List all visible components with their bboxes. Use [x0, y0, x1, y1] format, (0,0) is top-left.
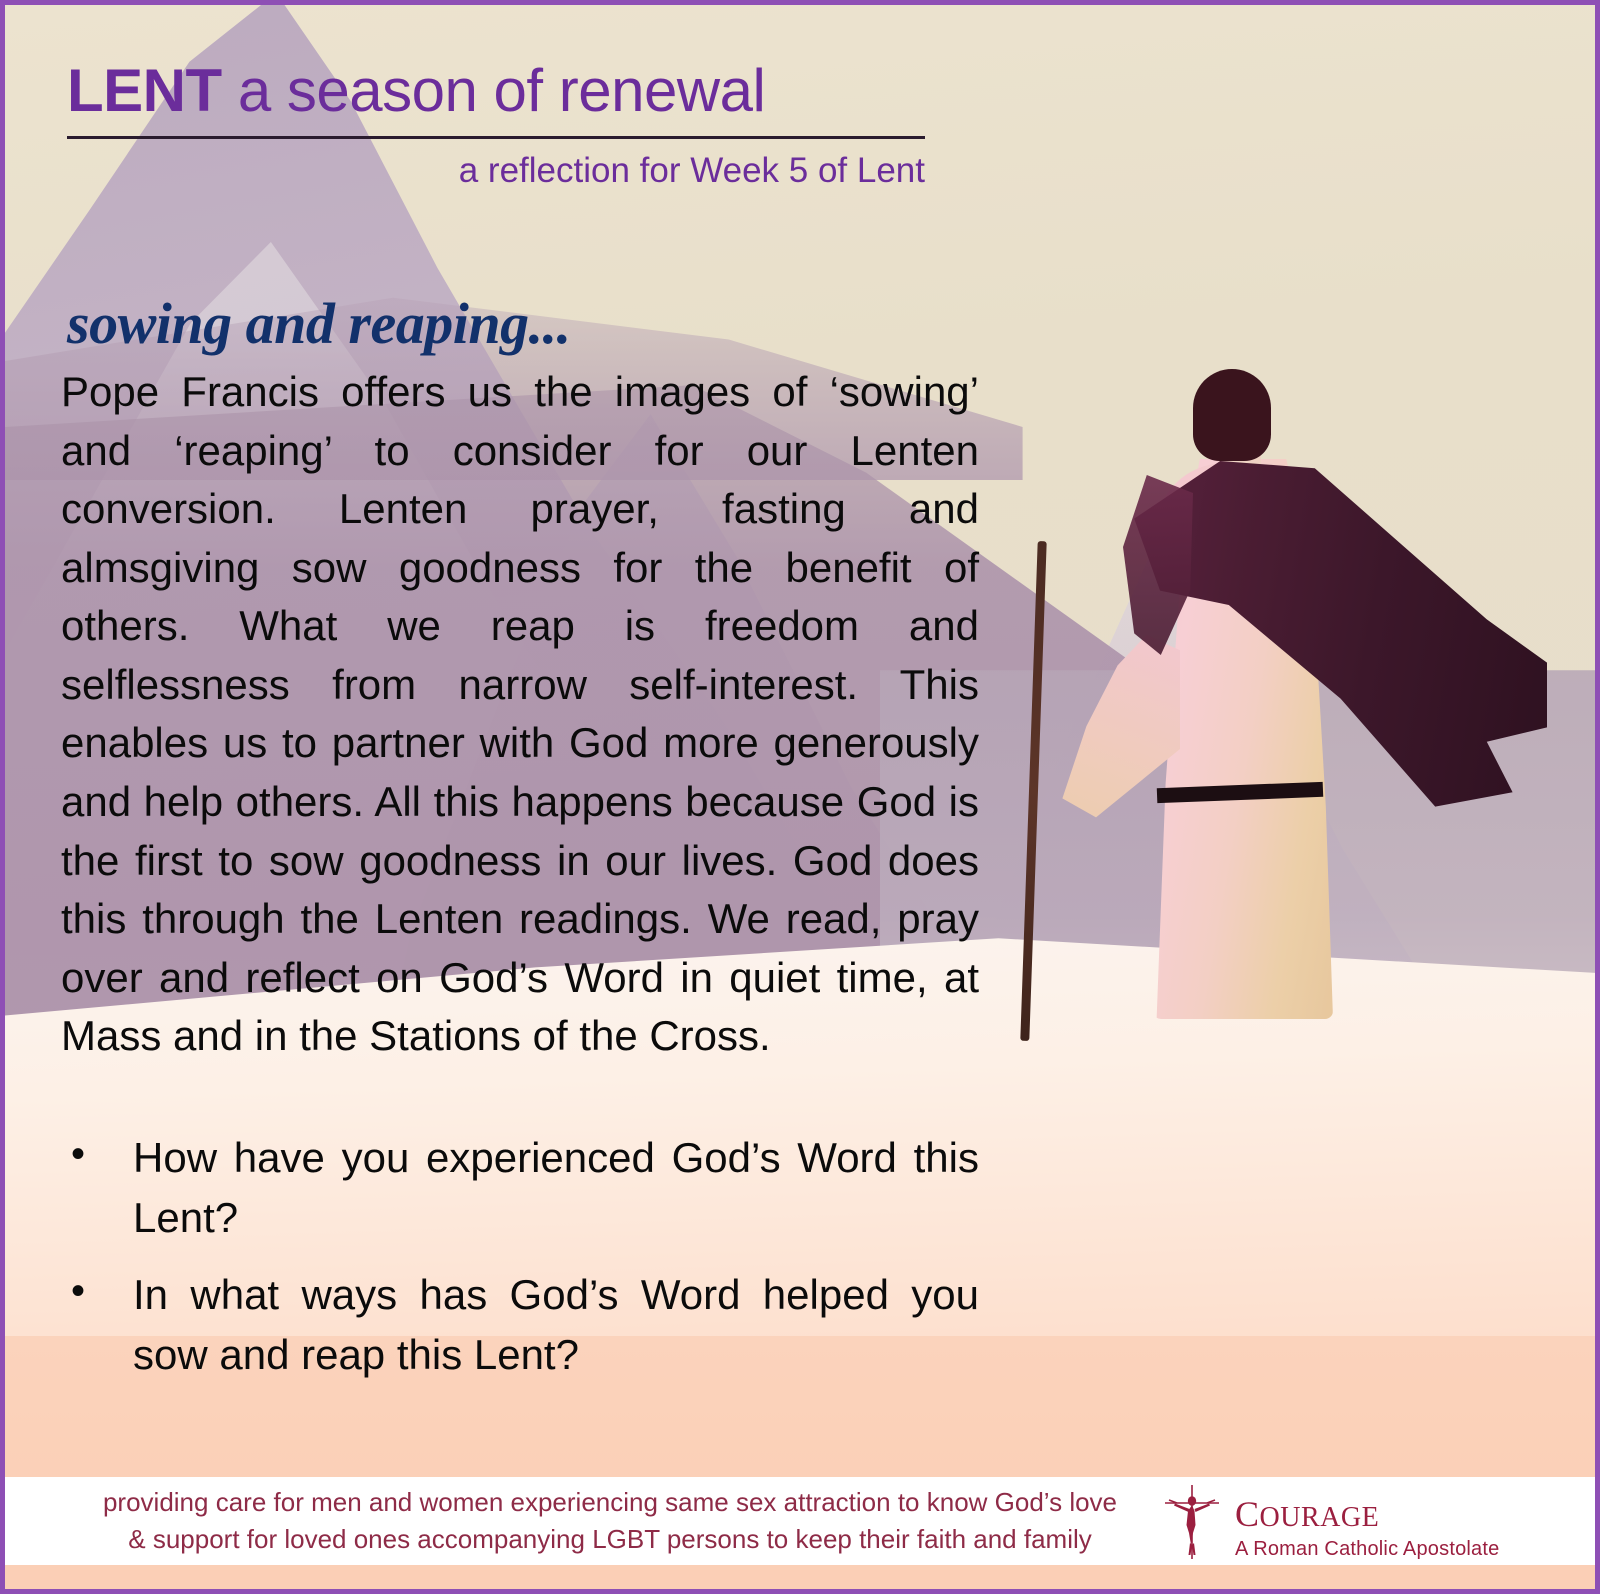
title-lent-word: LENT [67, 57, 222, 124]
courage-logo: COURAGE A Roman Catholic Apostolate [1155, 1481, 1595, 1561]
reflection-questions-list: How have you experienced God’s Word this… [61, 1128, 979, 1385]
figure-head [1193, 369, 1271, 461]
reflection-content: sowing and reaping... Pope Francis offer… [61, 295, 979, 1402]
logo-wordmark: COURAGE A Roman Catholic Apostolate [1235, 1484, 1499, 1559]
list-item: In what ways has God’s Word helped you s… [61, 1265, 979, 1384]
reflection-paragraph: Pope Francis offers us the images of ‘so… [61, 363, 979, 1066]
walking-staff-icon [1020, 541, 1046, 1041]
section-heading: sowing and reaping... [67, 295, 979, 353]
poster-footer: providing care for men and women experie… [5, 1477, 1595, 1565]
crucifix-icon [1155, 1481, 1229, 1561]
lent-reflection-poster: LENT a season of renewal a reflection fo… [0, 0, 1600, 1594]
mission-line-1: providing care for men and women experie… [65, 1484, 1155, 1521]
title-tagline: a season of renewal [222, 57, 766, 124]
poster-subtitle: a reflection for Week 5 of Lent [67, 151, 925, 191]
logo-name: COURAGE [1235, 1484, 1499, 1536]
title-divider [67, 136, 925, 139]
question-text: In what ways has God’s Word helped you s… [133, 1265, 979, 1384]
poster-header: LENT a season of renewal a reflection fo… [67, 59, 967, 191]
logo-tagline: A Roman Catholic Apostolate [1235, 1539, 1499, 1559]
list-item: How have you experienced God’s Word this… [61, 1128, 979, 1247]
page-title: LENT a season of renewal [67, 59, 967, 122]
mission-statement: providing care for men and women experie… [5, 1484, 1155, 1558]
pilgrim-figure [1005, 355, 1565, 1075]
mission-line-2: & support for loved ones accompanying LG… [65, 1521, 1155, 1558]
question-text: How have you experienced God’s Word this… [133, 1128, 979, 1247]
